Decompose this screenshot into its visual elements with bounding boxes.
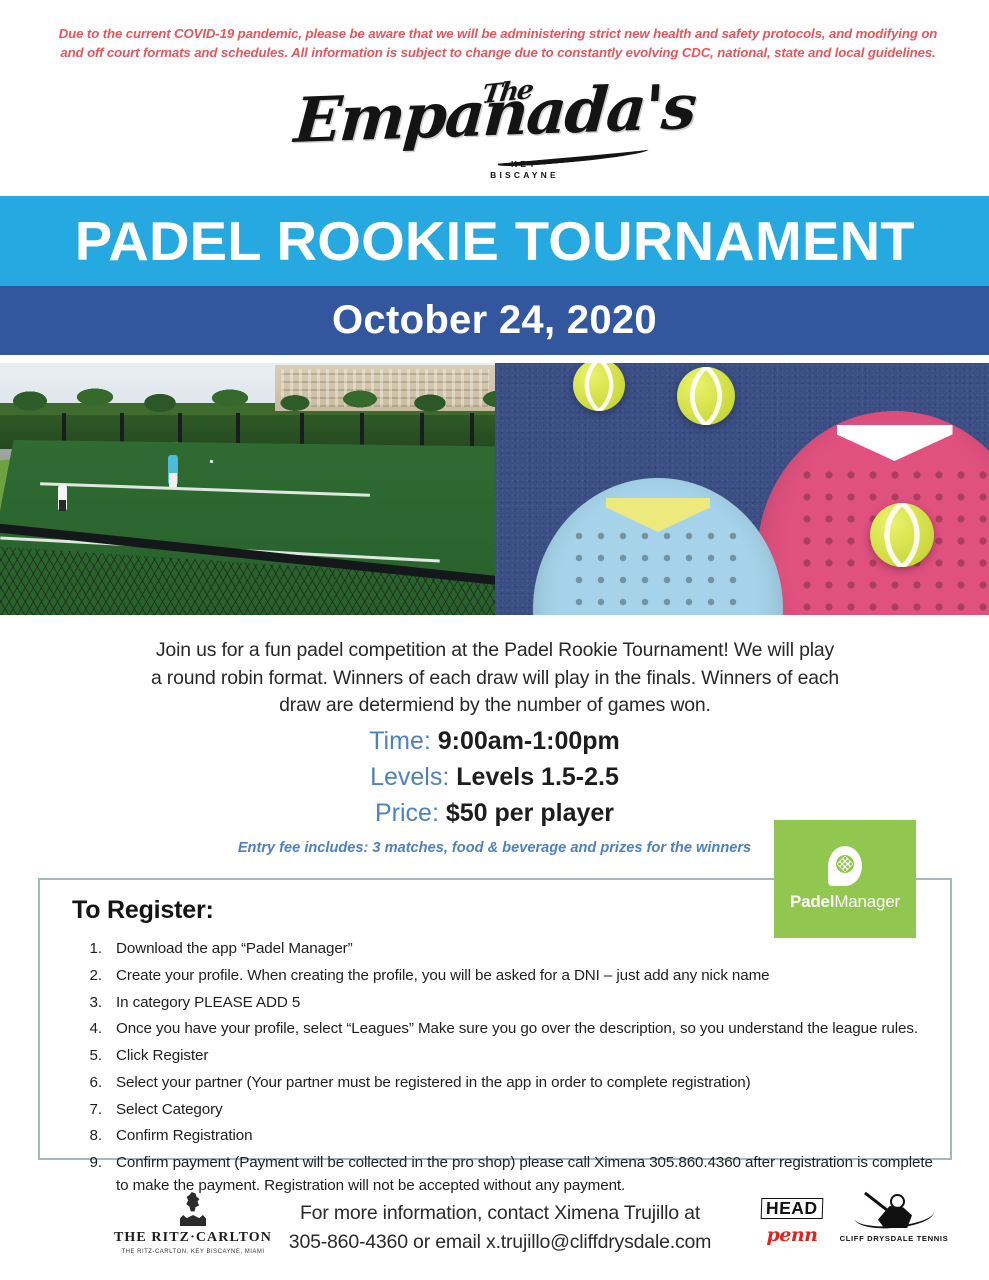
list-item-number: 4.	[74, 1018, 102, 1041]
covid-disclaimer-line-1: Due to the current COVID-19 pandemic, pl…	[48, 24, 948, 43]
empanadas-logo-location-line-2: BISCAYNE	[490, 170, 559, 181]
title-banner: PADEL ROOKIE TOURNAMENT	[0, 196, 989, 286]
page-title: PADEL ROOKIE TOURNAMENT	[74, 209, 914, 273]
detail-label-time: Time:	[369, 727, 431, 755]
detail-label-levels: Levels:	[370, 763, 449, 791]
padel-manager-brand-bold: Padel	[790, 892, 834, 911]
covid-disclaimer-line-2: and off court formats and schedules. All…	[48, 43, 948, 62]
list-item-text: Select your partner (Your partner must b…	[116, 1074, 751, 1091]
list-item-text: Download the app “Padel Manager”	[116, 940, 353, 957]
photo-tennis-ball	[870, 503, 934, 567]
list-item-number: 5.	[74, 1045, 102, 1068]
registration-title: To Register:	[72, 896, 214, 925]
detail-label-price: Price:	[375, 799, 439, 827]
padel-courts-photo	[0, 363, 495, 615]
cliff-drysdale-label: CLIFF DRYSDALE TENNIS	[835, 1234, 954, 1243]
detail-row-levels: Levels: Levels 1.5-2.5	[0, 759, 989, 795]
tennis-player-icon	[854, 1192, 934, 1232]
contact-line-1: For more information, contact Ximena Tru…	[280, 1199, 720, 1228]
photo-racket-holes	[568, 525, 748, 615]
list-item: 9.Confirm payment (Payment will be colle…	[66, 1152, 944, 1197]
photo-strip	[0, 363, 989, 615]
list-item-text: Click Register	[116, 1047, 208, 1064]
padel-manager-wordmark: PadelManager	[790, 892, 900, 912]
photo-player	[168, 455, 178, 485]
list-item-number: 6.	[74, 1072, 102, 1095]
list-item-number: 3.	[74, 992, 102, 1015]
list-item: 5.Click Register	[66, 1045, 944, 1068]
photo-racket-chevron	[837, 425, 953, 461]
list-item: 6.Select your partner (Your partner must…	[66, 1072, 944, 1095]
intro-line-2: a round robin format. Winners of each dr…	[86, 665, 904, 693]
detail-value-levels: Levels 1.5-2.5	[456, 763, 619, 791]
list-item: 3.In category PLEASE ADD 5	[66, 992, 944, 1015]
list-item-text: Create your profile. When creating the p…	[116, 967, 770, 984]
list-item: 2.Create your profile. When creating the…	[66, 965, 944, 988]
photo-court-line	[40, 482, 370, 497]
padel-manager-logo: PadelManager	[774, 820, 916, 938]
ritz-carlton-name: THE RITZ·CARLTON	[88, 1230, 298, 1246]
detail-value-time: 9:00am-1:00pm	[438, 727, 620, 755]
intro-paragraph: Join us for a fun padel competition at t…	[86, 637, 904, 720]
date-banner: October 24, 2020	[0, 286, 989, 355]
contact-line-2: 305-860-4360 or email x.trujillo@cliffdr…	[280, 1228, 720, 1257]
list-item-number: 9.	[74, 1152, 102, 1175]
intro-line-1: Join us for a fun padel competition at t…	[86, 637, 904, 665]
head-penn-logo: HEAD penn	[748, 1198, 836, 1246]
list-item-text: Confirm Registration	[116, 1127, 252, 1144]
list-item: 4.Once you have your profile, select “Le…	[66, 1018, 944, 1041]
detail-row-time: Time: 9:00am-1:00pm	[0, 723, 989, 759]
padel-manager-brand-light: Manager	[834, 892, 900, 911]
lion-shape	[185, 1192, 201, 1213]
list-item: 1.Download the app “Padel Manager”	[66, 938, 944, 961]
list-item-text: In category PLEASE ADD 5	[116, 994, 300, 1011]
empanadas-logo: The Empanada's KEY BISCAYNE	[0, 78, 989, 188]
list-item-number: 7.	[74, 1099, 102, 1122]
flyer-page: Due to the current COVID-19 pandemic, pl…	[0, 0, 989, 1280]
ritz-carlton-logo: THE RITZ·CARLTON THE RITZ-CARLTON, KEY B…	[88, 1192, 298, 1255]
cliff-drysdale-tennis-logo: CLIFF DRYSDALE TENNIS	[838, 1192, 950, 1243]
penn-brand-label: penn	[748, 1224, 836, 1246]
event-details: Time: 9:00am-1:00pm Levels: Levels 1.5-2…	[0, 723, 989, 831]
covid-disclaimer: Due to the current COVID-19 pandemic, pl…	[48, 24, 948, 62]
crown-shape	[180, 1215, 206, 1226]
padel-manager-pin-icon	[828, 846, 862, 886]
list-item: 8.Confirm Registration	[66, 1125, 944, 1148]
empanadas-logo-wordmark: The Empanada's	[292, 78, 696, 151]
photo-player	[58, 485, 67, 511]
head-brand-label: HEAD	[761, 1198, 823, 1219]
list-item-text: Select Category	[116, 1101, 223, 1118]
photo-court-line	[210, 460, 214, 464]
list-item-text: Once you have your profile, select “Leag…	[116, 1020, 918, 1037]
registration-steps-list: 1.Download the app “Padel Manager” 2.Cre…	[66, 938, 944, 1202]
contact-info: For more information, contact Ximena Tru…	[280, 1199, 720, 1257]
ritz-carlton-location: THE RITZ-CARLTON, KEY BISCAYNE, MIAMI	[88, 1249, 298, 1255]
list-item-number: 1.	[74, 938, 102, 961]
list-item-text: Confirm payment (Payment will be collect…	[116, 1154, 933, 1194]
photo-tennis-ball	[677, 367, 735, 425]
event-date: October 24, 2020	[332, 298, 657, 343]
empanadas-logo-the: The	[480, 78, 533, 108]
list-item: 7.Select Category	[66, 1099, 944, 1122]
intro-line-3: draw are determiend by the number of gam…	[86, 692, 904, 720]
list-item-number: 2.	[74, 965, 102, 988]
detail-value-price: $50 per player	[446, 799, 614, 827]
list-item-number: 8.	[74, 1125, 102, 1148]
ritz-carlton-lion-crest-icon	[180, 1192, 206, 1226]
padel-rackets-photo	[495, 363, 989, 615]
